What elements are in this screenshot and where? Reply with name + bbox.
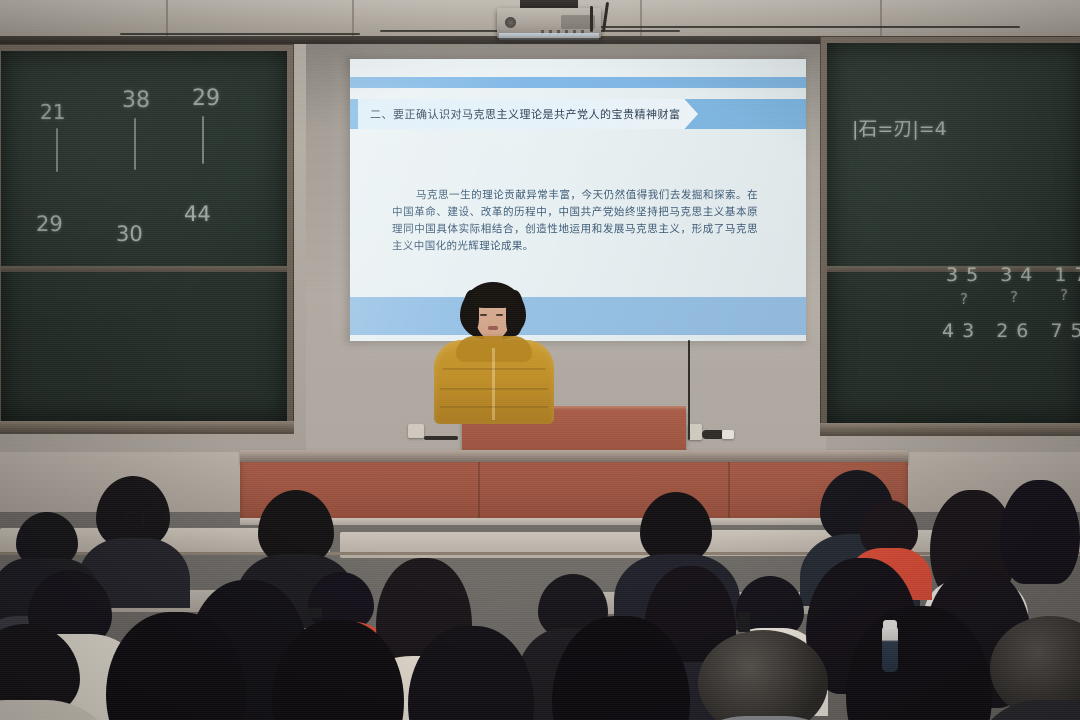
projector-light-beam	[499, 33, 599, 41]
right-blackboard: |石=刃|=4 35 34 17 43 26 75 ? ? ?	[820, 36, 1080, 436]
left-blackboard-surface	[1, 51, 287, 421]
slide: 二、要正确认识对马克思主义理论是共产党人的宝贵精神财富 马克思一生的理论贡献异常…	[350, 59, 806, 341]
water-bottle	[882, 626, 898, 672]
left-chalk-tray	[0, 421, 294, 434]
projector-cable	[590, 6, 593, 32]
ceiling-wire	[120, 33, 360, 35]
blackboard-divider	[1, 266, 287, 272]
desk-device	[408, 424, 424, 438]
right-blackboard-surface	[827, 43, 1080, 423]
projector-lens-icon	[505, 17, 516, 28]
phone	[738, 612, 750, 632]
presenter	[432, 282, 556, 422]
classroom-photo: 21 38 29 29 30 44 |石=刃|=4 35 34 17 43 26…	[0, 0, 1080, 720]
presenter-mouth	[488, 326, 498, 330]
presenter-eye	[480, 314, 487, 316]
desk-paper	[722, 430, 734, 439]
projection-screen: 二、要正确认识对马克思主义理论是共产党人的宝贵精神财富 马克思一生的理论贡献异常…	[350, 59, 806, 341]
presenter-eye	[496, 314, 503, 316]
jacket-seam	[442, 368, 546, 370]
wall-cable	[688, 340, 690, 440]
ceiling-seam	[640, 0, 642, 40]
slide-bottom-band	[350, 297, 806, 335]
slide-top-band	[350, 77, 806, 88]
slide-title-ribbon: 二、要正确认识对马克思主义理论是共产党人的宝贵精神财富	[358, 99, 698, 129]
jacket-seam	[440, 388, 548, 390]
ceiling-wire	[600, 26, 1020, 28]
ceiling-seam	[880, 0, 882, 40]
audience	[0, 440, 1080, 720]
left-blackboard: 21 38 29 29 30 44	[0, 44, 294, 434]
jacket-seam	[440, 406, 548, 408]
blackboard-divider	[827, 266, 1080, 272]
right-chalk-tray	[820, 423, 1080, 436]
slide-title-text: 二、要正确认识对马克思主义理论是共产党人的宝贵精神财富	[358, 106, 681, 122]
presenter-jacket-zipper	[492, 348, 495, 420]
microphone-base	[688, 424, 702, 440]
desk-object	[702, 430, 724, 439]
bottle-cap	[883, 620, 897, 629]
phone	[308, 608, 322, 618]
slide-body-text: 马克思一生的理论贡献异常丰富，今天仍然值得我们去发掘和探索。在中国革命、建设、改…	[392, 187, 758, 255]
